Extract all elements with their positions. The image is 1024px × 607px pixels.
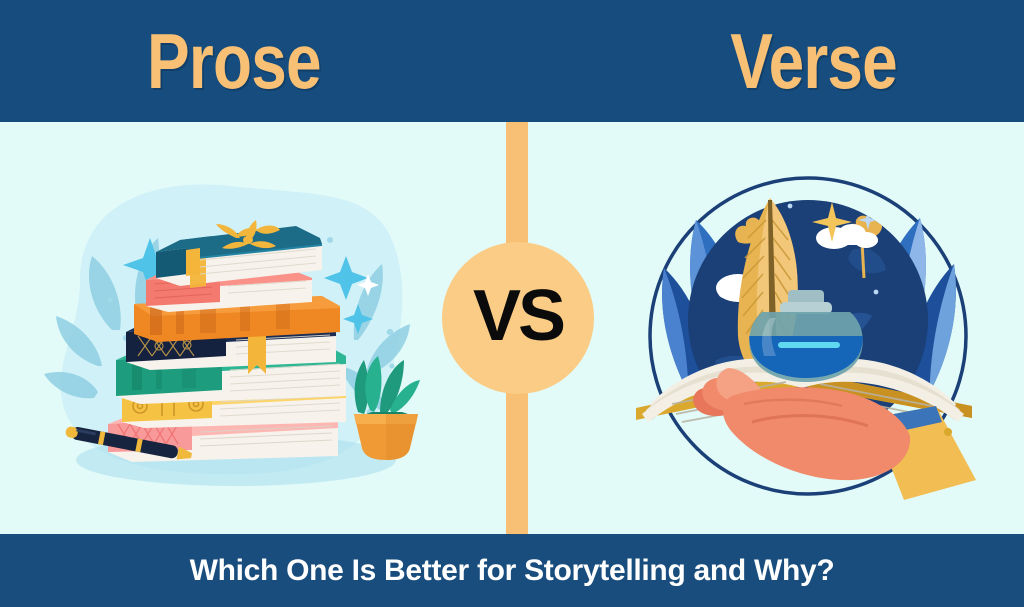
page-title-left-text: Prose: [147, 22, 321, 100]
footer-band: Which One Is Better for Storytelling and…: [0, 534, 1024, 607]
page-title-right-text: Verse: [730, 22, 897, 100]
page-title-right: Verse: [712, 22, 915, 100]
infographic-canvas: VS Prose Verse Which One Is Better for S…: [0, 0, 1024, 607]
vs-badge: VS: [442, 242, 594, 394]
stack-of-books-illustration: [40, 160, 420, 500]
header-band: Prose Verse: [0, 0, 1024, 122]
vs-badge-label: VS: [473, 280, 563, 352]
page-title-left: Prose: [128, 22, 340, 100]
quill-inkwell-book-illustration: [620, 160, 990, 510]
book-band-bottom: [190, 258, 206, 288]
footer-caption: Which One Is Better for Storytelling and…: [190, 554, 835, 588]
